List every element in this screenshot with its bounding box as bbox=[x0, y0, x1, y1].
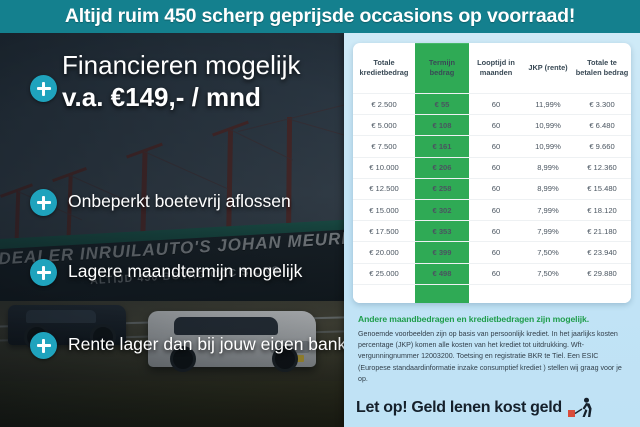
cell-duration: 60 bbox=[469, 263, 523, 284]
promo-bullet-3: Rente lager dan bij jouw eigen bank bbox=[68, 334, 346, 355]
note-body: Genoemde voorbeelden zijn op basis van p… bbox=[358, 329, 626, 385]
cell-duration: 60 bbox=[469, 115, 523, 136]
plus-icon bbox=[30, 75, 57, 102]
financing-banner: Altijd ruim 450 scherp geprijsde occasio… bbox=[0, 0, 640, 427]
cell-term-amount: € 353 bbox=[415, 221, 469, 242]
table-header-row: Totale kredietbedrag Termijn bedrag Loop… bbox=[353, 44, 631, 94]
cell-total-credit: € 20.000 bbox=[353, 242, 415, 263]
plus-icon bbox=[30, 332, 57, 359]
cell-jkp: 11,99% bbox=[523, 94, 573, 115]
cell-total-payable: € 6.480 bbox=[573, 115, 631, 136]
cell-duration: 60 bbox=[469, 221, 523, 242]
table-row: € 2.500€ 556011,99%€ 3.300 bbox=[353, 94, 631, 115]
table-row: € 5.000€ 1086010,99%€ 6.480 bbox=[353, 115, 631, 136]
cell-jkp: 8,99% bbox=[523, 157, 573, 178]
col-header-total-payable: Totale te betalen bedrag bbox=[573, 44, 631, 94]
table-row: € 15.000€ 302607,99%€ 18.120 bbox=[353, 199, 631, 220]
cell-duration: 60 bbox=[469, 94, 523, 115]
note-title: Andere maandbedragen en kredietbedragen … bbox=[358, 314, 630, 325]
top-banner-bar: Altijd ruim 450 scherp geprijsde occasio… bbox=[0, 0, 640, 33]
table-row: € 10.000€ 206608,99%€ 12.360 bbox=[353, 157, 631, 178]
cell-total-credit: € 10.000 bbox=[353, 157, 415, 178]
cell-jkp: 8,99% bbox=[523, 178, 573, 199]
col-header-term-amount: Termijn bedrag bbox=[415, 44, 469, 94]
cell-jkp: 7,99% bbox=[523, 199, 573, 220]
cell-duration: 60 bbox=[469, 136, 523, 157]
col-header-jkp: JKP (rente) bbox=[523, 44, 573, 94]
cell-total-credit: € 2.500 bbox=[353, 94, 415, 115]
promo-headline: Financieren mogelijk bbox=[62, 51, 352, 79]
cell-term-amount: € 258 bbox=[415, 178, 469, 199]
cell-term-amount: € 161 bbox=[415, 136, 469, 157]
cell-term-amount: € 206 bbox=[415, 157, 469, 178]
cell-term-amount: € 498 bbox=[415, 263, 469, 284]
cell-total-payable: € 21.180 bbox=[573, 221, 631, 242]
cell-term-amount: € 108 bbox=[415, 115, 469, 136]
financing-panel: Totale kredietbedrag Termijn bedrag Loop… bbox=[344, 33, 640, 427]
cell-jkp: 10,99% bbox=[523, 115, 573, 136]
cell-term-amount: € 55 bbox=[415, 94, 469, 115]
cell-total-credit: € 12.500 bbox=[353, 178, 415, 199]
card-footer-spacer bbox=[353, 285, 631, 303]
cell-total-credit: € 7.500 bbox=[353, 136, 415, 157]
col-header-total-credit: Totale kredietbedrag bbox=[353, 44, 415, 94]
top-banner-text: Altijd ruim 450 scherp geprijsde occasio… bbox=[65, 5, 575, 28]
table-row: € 25.000€ 498607,50%€ 29.880 bbox=[353, 263, 631, 284]
cell-duration: 60 bbox=[469, 199, 523, 220]
cell-jkp: 10,99% bbox=[523, 136, 573, 157]
cell-jkp: 7,50% bbox=[523, 242, 573, 263]
promo-bullet-2: Lagere maandtermijn mogelijk bbox=[68, 261, 302, 282]
cell-total-payable: € 12.360 bbox=[573, 157, 631, 178]
promo-copy: Financieren mogelijk v.a. €149,- / mnd O… bbox=[0, 33, 350, 427]
cell-duration: 60 bbox=[469, 178, 523, 199]
warning-text: Let op! Geld lenen kost geld bbox=[356, 399, 562, 417]
cell-total-payable: € 23.940 bbox=[573, 242, 631, 263]
cell-term-amount: € 399 bbox=[415, 242, 469, 263]
promo-subline: v.a. €149,- / mnd bbox=[62, 83, 352, 111]
cell-jkp: 7,50% bbox=[523, 263, 573, 284]
cell-duration: 60 bbox=[469, 242, 523, 263]
table-row: € 7.500€ 1616010,99%€ 9.660 bbox=[353, 136, 631, 157]
man-pulling-block-icon bbox=[568, 397, 594, 419]
cell-jkp: 7,99% bbox=[523, 221, 573, 242]
table-row: € 20.000€ 399607,50%€ 23.940 bbox=[353, 242, 631, 263]
cell-total-payable: € 18.120 bbox=[573, 199, 631, 220]
cell-total-payable: € 9.660 bbox=[573, 136, 631, 157]
cell-duration: 60 bbox=[469, 157, 523, 178]
cell-total-credit: € 15.000 bbox=[353, 199, 415, 220]
cell-total-credit: € 25.000 bbox=[353, 263, 415, 284]
plus-icon bbox=[30, 189, 57, 216]
rates-table-body: € 2.500€ 556011,99%€ 3.300€ 5.000€ 10860… bbox=[353, 94, 631, 304]
table-row: € 17.500€ 353607,99%€ 21.180 bbox=[353, 221, 631, 242]
cell-total-credit: € 5.000 bbox=[353, 115, 415, 136]
cell-total-payable: € 15.480 bbox=[573, 178, 631, 199]
promo-bullet-1: Onbeperkt boetevrij aflossen bbox=[68, 191, 291, 212]
cell-total-payable: € 29.880 bbox=[573, 263, 631, 284]
plus-icon bbox=[30, 259, 57, 286]
table-row: € 12.500€ 258608,99%€ 15.480 bbox=[353, 178, 631, 199]
col-header-duration: Looptijd in maanden bbox=[469, 44, 523, 94]
cell-total-payable: € 3.300 bbox=[573, 94, 631, 115]
rates-table: Totale kredietbedrag Termijn bedrag Loop… bbox=[353, 43, 631, 303]
cell-total-credit: € 17.500 bbox=[353, 221, 415, 242]
warning-bar: Let op! Geld lenen kost geld bbox=[356, 395, 631, 421]
cell-term-amount: € 302 bbox=[415, 199, 469, 220]
rates-card: Totale kredietbedrag Termijn bedrag Loop… bbox=[353, 43, 631, 303]
